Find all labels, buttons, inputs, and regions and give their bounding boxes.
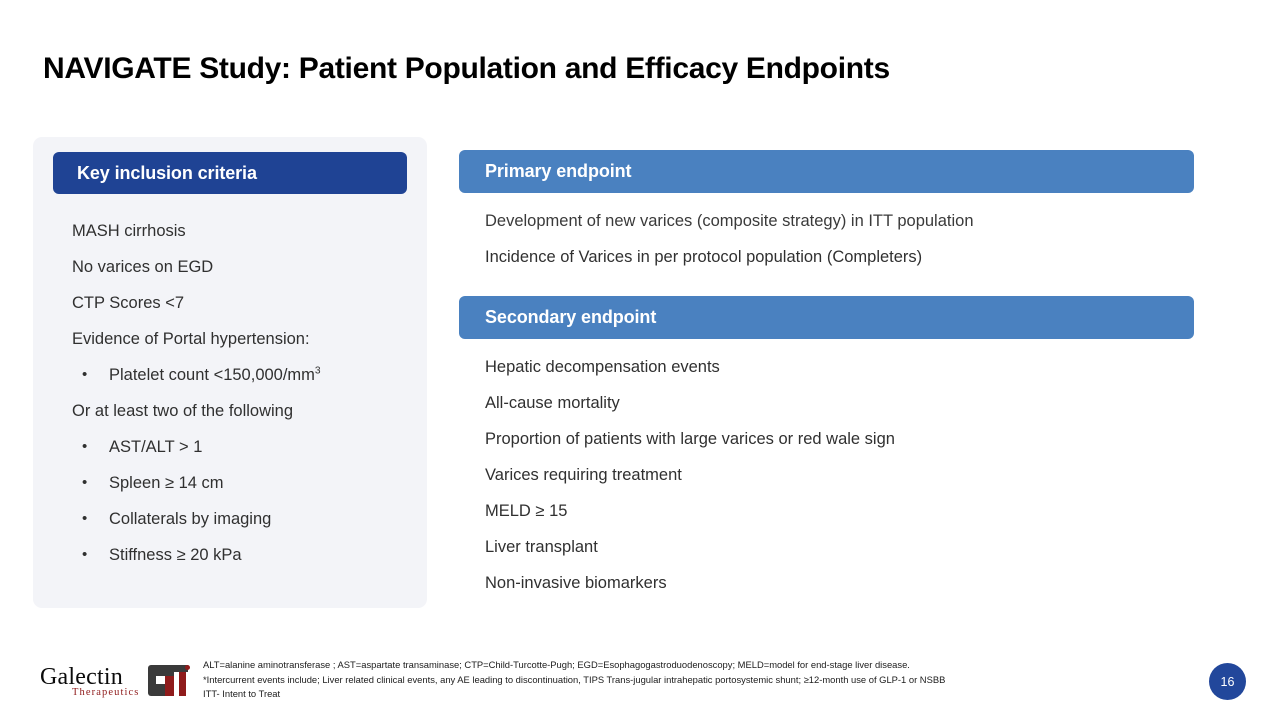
- bullet-icon: •: [82, 537, 87, 573]
- list-item: Proportion of patients with large varice…: [485, 421, 1194, 457]
- secondary-endpoint-header-label: Secondary endpoint: [485, 307, 656, 328]
- footnote-line: ALT=alanine aminotransferase ; AST=aspar…: [203, 658, 1163, 673]
- list-item: No varices on EGD: [72, 249, 412, 285]
- criteria-text: AST/ALT > 1: [109, 438, 202, 456]
- primary-endpoint-header-label: Primary endpoint: [485, 161, 631, 182]
- logo-subtitle: Therapeutics: [72, 687, 139, 698]
- galectin-therapeutics-logo: Galectin Therapeutics: [40, 662, 190, 702]
- bullet-icon: •: [82, 465, 87, 501]
- list-item: Liver transplant: [485, 529, 1194, 565]
- primary-endpoint-block: Primary endpoint Development of new vari…: [459, 150, 1194, 275]
- list-item: Development of new varices (composite st…: [485, 203, 1194, 239]
- gt-monogram-icon: [148, 665, 190, 696]
- inclusion-criteria-panel: Key inclusion criteria MASH cirrhosis No…: [33, 137, 427, 608]
- monogram-g-shape: [148, 665, 174, 696]
- list-item: MASH cirrhosis: [72, 213, 412, 249]
- criteria-text: Platelet count <150,000/mm: [109, 366, 315, 384]
- list-item: • Collaterals by imaging: [72, 501, 412, 537]
- inclusion-criteria-list: MASH cirrhosis No varices on EGD CTP Sco…: [72, 213, 412, 573]
- criteria-text: No varices on EGD: [72, 258, 213, 276]
- inclusion-criteria-header: Key inclusion criteria: [53, 152, 407, 194]
- secondary-endpoint-block: Secondary endpoint Hepatic decompensatio…: [459, 296, 1194, 601]
- endpoints-column: Primary endpoint Development of new vari…: [459, 150, 1194, 601]
- page-number-badge: 16: [1209, 663, 1246, 700]
- criteria-superscript: 3: [315, 366, 321, 377]
- primary-endpoint-header: Primary endpoint: [459, 150, 1194, 193]
- list-item: CTP Scores <7: [72, 285, 412, 321]
- bullet-icon: •: [82, 429, 87, 465]
- list-item: MELD ≥ 15: [485, 493, 1194, 529]
- criteria-text: Collaterals by imaging: [109, 510, 271, 528]
- monogram-g-lip: [165, 676, 174, 696]
- list-item: • Platelet count <150,000/mm3: [72, 357, 412, 393]
- list-item: • Spleen ≥ 14 cm: [72, 465, 412, 501]
- list-item: Incidence of Varices in per protocol pop…: [485, 239, 1194, 275]
- footnote-line: *Intercurrent events include; Liver rela…: [203, 673, 1163, 688]
- footnotes: ALT=alanine aminotransferase ; AST=aspar…: [203, 658, 1163, 702]
- page-title: NAVIGATE Study: Patient Population and E…: [43, 52, 890, 86]
- list-item: Evidence of Portal hypertension:: [72, 321, 412, 357]
- footnote-line: ITT- Intent to Treat: [203, 687, 1163, 702]
- list-item: • Stiffness ≥ 20 kPa: [72, 537, 412, 573]
- page-number-label: 16: [1221, 675, 1235, 689]
- bullet-icon: •: [82, 357, 87, 393]
- secondary-endpoint-list: Hepatic decompensation events All-cause …: [459, 339, 1194, 601]
- list-item: Or at least two of the following: [72, 393, 412, 429]
- criteria-text: Spleen ≥ 14 cm: [109, 474, 224, 492]
- criteria-text: CTP Scores <7: [72, 294, 184, 312]
- slide-canvas: NAVIGATE Study: Patient Population and E…: [0, 0, 1280, 720]
- monogram-t-stem: [179, 672, 186, 696]
- criteria-text: Or at least two of the following: [72, 402, 293, 420]
- criteria-text: Stiffness ≥ 20 kPa: [109, 546, 242, 564]
- list-item: Non-invasive biomarkers: [485, 565, 1194, 601]
- monogram-dot: [185, 665, 190, 670]
- bullet-icon: •: [82, 501, 87, 537]
- list-item: All-cause mortality: [485, 385, 1194, 421]
- secondary-endpoint-header: Secondary endpoint: [459, 296, 1194, 339]
- primary-endpoint-list: Development of new varices (composite st…: [459, 193, 1194, 275]
- criteria-text: Evidence of Portal hypertension:: [72, 330, 310, 348]
- list-item: • AST/ALT > 1: [72, 429, 412, 465]
- list-item: Hepatic decompensation events: [485, 349, 1194, 385]
- list-item: Varices requiring treatment: [485, 457, 1194, 493]
- criteria-text: MASH cirrhosis: [72, 222, 186, 240]
- inclusion-criteria-header-label: Key inclusion criteria: [77, 163, 257, 184]
